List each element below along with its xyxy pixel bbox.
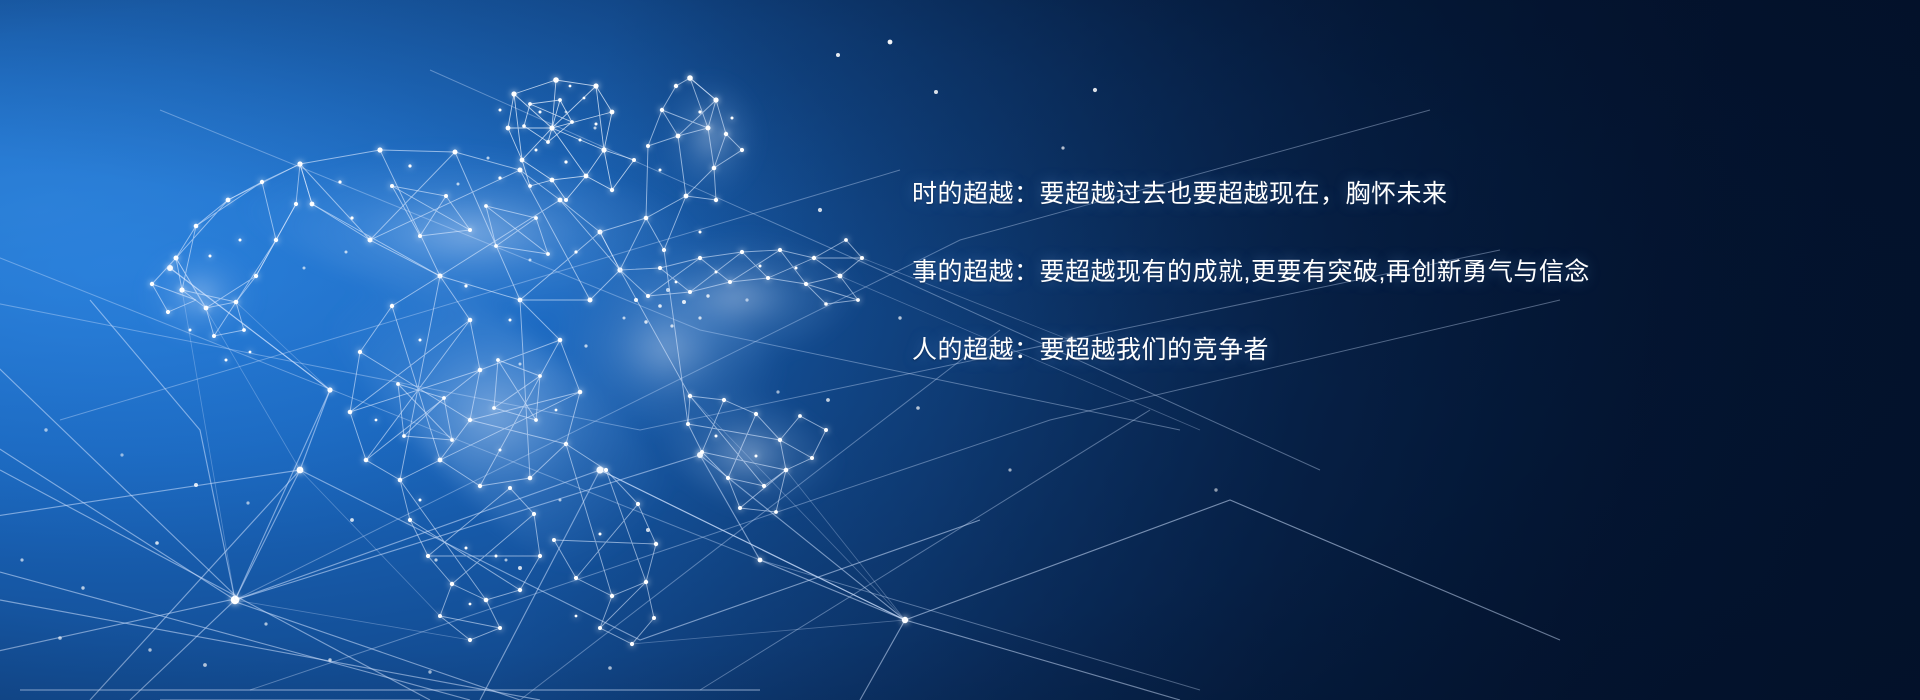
banner-copy: 时的超越：要超越过去也要超越现在，胸怀未来 事的超越：要超越现有的成就,更要有突… [912,182,1812,363]
copy-line-people: 人的超越：要超越我们的竞争者 [912,338,1812,363]
copy-line-achievement: 事的超越：要超越现有的成就,更要有突破,再创新勇气与信念 [912,260,1812,285]
hero-banner: 时的超越：要超越过去也要超越现在，胸怀未来 事的超越：要超越现有的成就,更要有突… [0,0,1920,700]
copy-line-time: 时的超越：要超越过去也要超越现在，胸怀未来 [912,182,1812,207]
